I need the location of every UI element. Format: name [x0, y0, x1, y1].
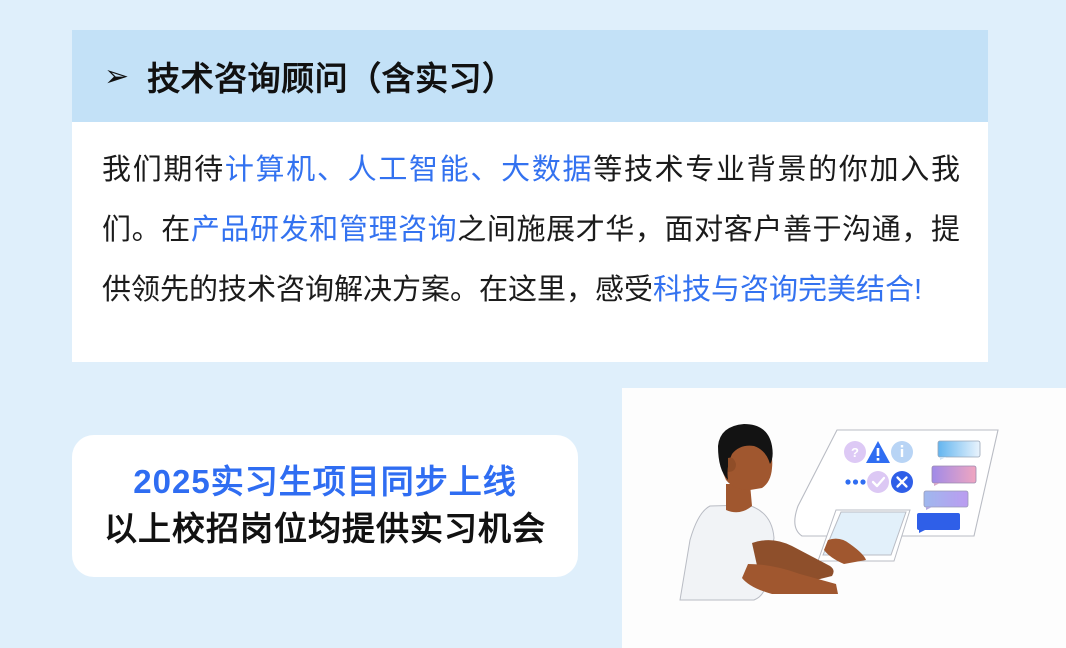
- arrow-bullet-icon: ➢: [104, 62, 129, 92]
- job-title: 技术咨询顾问（含实习）: [147, 52, 516, 100]
- job-header: ➢ 技术咨询顾问（含实习）: [72, 30, 988, 122]
- job-description-highlight: 计算机、人工智能、大数据: [225, 154, 593, 186]
- ellipsis-icon: [845, 479, 865, 484]
- job-body: 我们期待计算机、人工智能、大数据等技术专业背景的你加入我们。在产品研发和管理咨询…: [72, 122, 988, 362]
- job-description-highlight: 科技与咨询完美结合!: [653, 274, 922, 306]
- check-icon: [867, 471, 889, 493]
- info-icon: [891, 441, 913, 463]
- job-description: 我们期待计算机、人工智能、大数据等技术专业背景的你加入我们。在产品研发和管理咨询…: [102, 140, 960, 320]
- svg-text:?: ?: [851, 445, 859, 460]
- close-icon: [891, 471, 913, 493]
- person-at-laptop-illustration: ?: [622, 388, 1066, 648]
- bubble-purple-pink: [932, 466, 976, 486]
- illustration-panel: ?: [622, 388, 1066, 648]
- internship-promo-card: 2025实习生项目同步上线 以上校招岗位均提供实习机会: [72, 435, 578, 577]
- question-icon: ?: [844, 441, 866, 463]
- job-posting-block: ➢ 技术咨询顾问（含实习） 我们期待计算机、人工智能、大数据等技术专业背景的你加…: [72, 30, 988, 362]
- bubble-blue-purple: [924, 491, 968, 510]
- job-description-text: 我们期待: [102, 154, 225, 186]
- bubble-blue-light: [938, 441, 980, 460]
- promo-headline: 2025实习生项目同步上线: [133, 461, 516, 502]
- bubble-solid-blue: [917, 513, 960, 533]
- promo-subline: 以上校招岗位均提供实习机会: [104, 508, 546, 551]
- job-description-highlight: 产品研发和管理咨询: [191, 214, 457, 246]
